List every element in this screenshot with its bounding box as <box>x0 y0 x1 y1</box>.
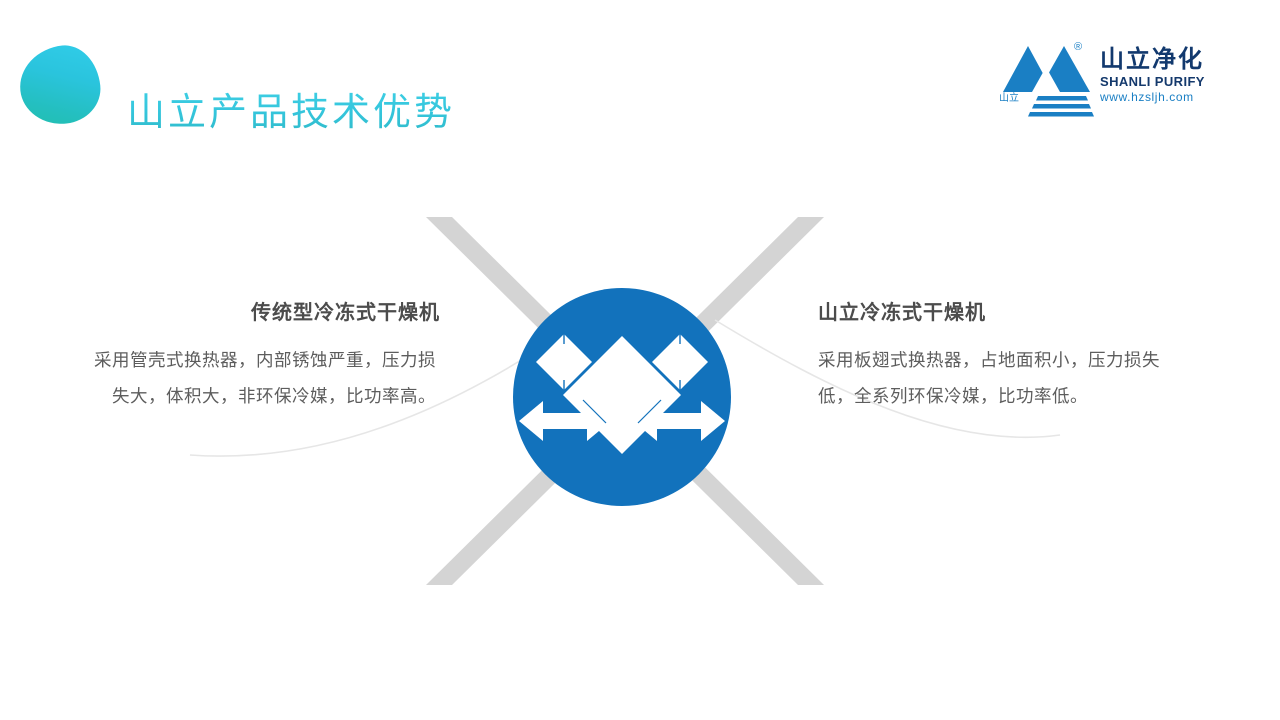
logo-mark-caption: 山立 <box>999 93 1019 105</box>
slide-header: 山立产品技术优势 ® 山立 山立净化 SHANLI PURIFY www.hzs… <box>0 0 1280 150</box>
comparison-body-traditional: 采用管壳式换热器，内部锈蚀严重，压力损失大，体积大，非环保冷媒，比功率高。 <box>88 342 436 414</box>
registered-trademark-icon: ® <box>1074 42 1082 53</box>
slide-canvas: 山立产品技术优势 ® 山立 山立净化 SHANLI PURIFY www.hzs… <box>0 0 1280 720</box>
comparison-column-traditional: 传统型冷冻式干燥机 采用管壳式换热器，内部锈蚀严重，压力损失大，体积大，非环保冷… <box>88 298 440 414</box>
brand-logo: ® 山立 山立净化 SHANLI PURIFY www.hzsljh.com <box>998 40 1218 122</box>
hub-circle <box>513 288 731 506</box>
comparison-heading-shanli: 山立冷冻式干燥机 <box>818 298 1170 328</box>
brand-wordmark: 山立净化 SHANLI PURIFY www.hzsljh.com <box>1100 46 1220 105</box>
blob-decoration-icon <box>16 42 104 128</box>
comparison-body-shanli: 采用板翅式换热器，占地面积小，压力损失低，全系列环保冷媒，比功率低。 <box>818 342 1166 414</box>
expand-arrows-diamond-icon <box>513 288 731 506</box>
brand-website: www.hzsljh.com <box>1100 90 1220 105</box>
comparison-column-shanli: 山立冷冻式干燥机 采用板翅式换热器，占地面积小，压力损失低，全系列环保冷媒，比功… <box>818 298 1170 414</box>
comparison-heading-traditional: 传统型冷冻式干燥机 <box>88 298 440 328</box>
brand-name-en: SHANLI PURIFY <box>1100 74 1220 90</box>
page-title: 山立产品技术优势 <box>127 87 455 139</box>
center-graphic <box>400 215 850 595</box>
brand-name-cn: 山立净化 <box>1100 46 1220 74</box>
